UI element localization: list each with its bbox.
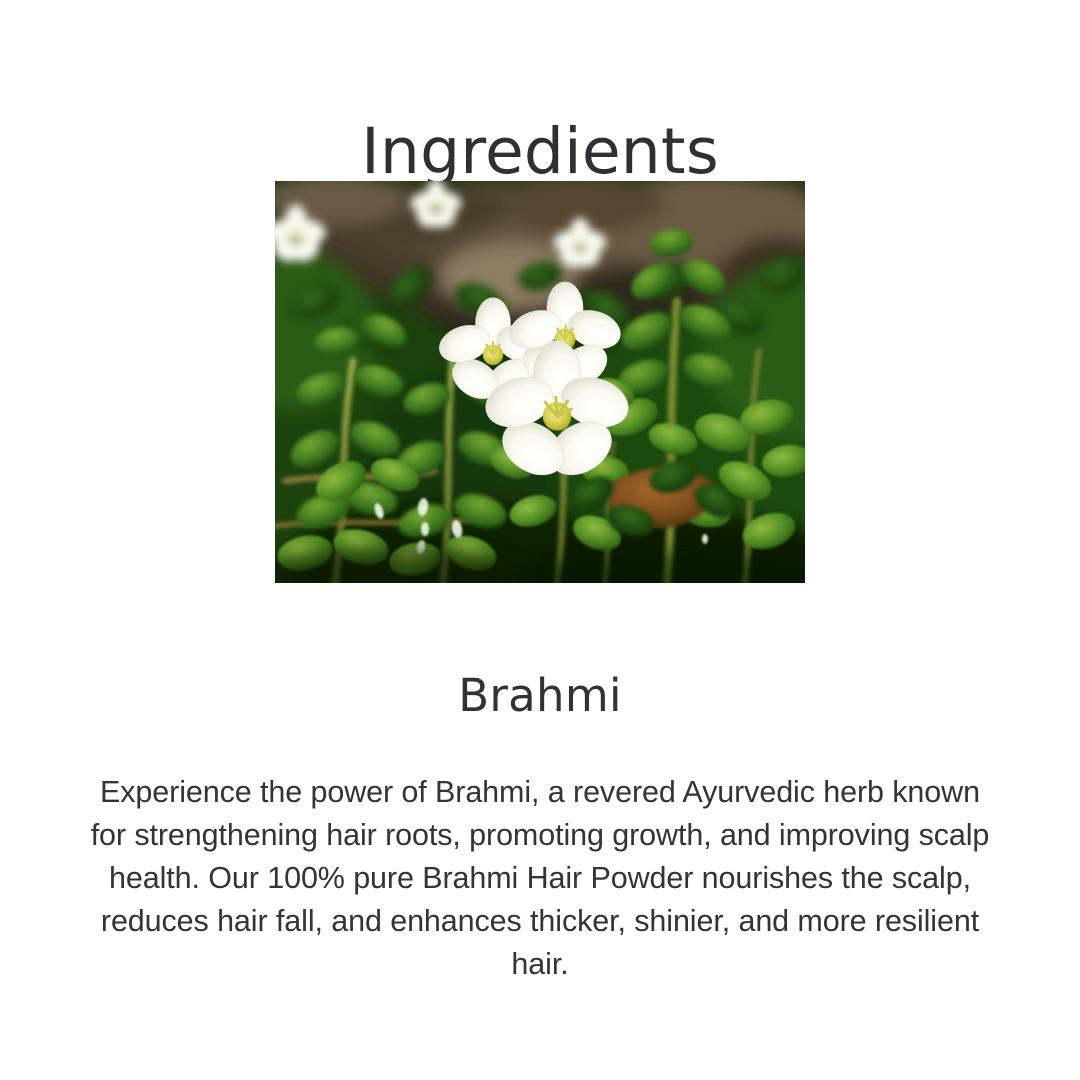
ingredient-name: Brahmi xyxy=(0,671,1080,721)
page-title: Ingredients xyxy=(0,120,1080,183)
brahmi-plant-illustration xyxy=(275,181,805,583)
ingredient-description: Experience the power of Brahmi, a revere… xyxy=(90,771,990,986)
ingredient-slide: Ingredients xyxy=(0,0,1080,1080)
ingredient-photo xyxy=(275,181,805,583)
